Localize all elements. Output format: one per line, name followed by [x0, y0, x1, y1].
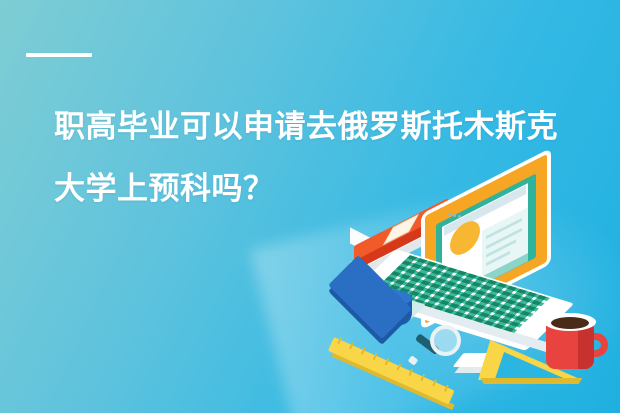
accent-rule: [26, 53, 92, 57]
mug-shade-icon: [578, 325, 594, 369]
window-dot-icon: [448, 213, 451, 216]
promo-banner: 职高毕业可以申请去俄罗斯托木斯克大学上预科吗？: [0, 0, 620, 413]
coffee-surface-icon: [551, 317, 589, 329]
window-dot-icon: [458, 215, 461, 218]
magnifying-glass-icon: [430, 325, 461, 356]
window-dot-icon: [453, 214, 456, 217]
magnifier-tip-icon: [408, 355, 419, 365]
education-desk-illustration: [330, 185, 620, 413]
set-square-edge-icon: [478, 378, 583, 384]
